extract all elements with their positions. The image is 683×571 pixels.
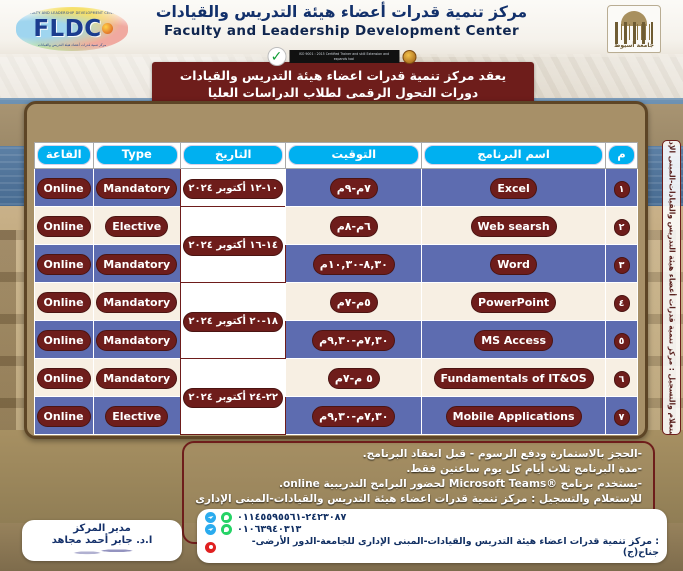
column-header-hall: القاعة (35, 143, 94, 169)
contact-phone-1: ٢٤٢٣٠٨٧-٠١١٤٥٥٩٥٥٦١ (237, 512, 346, 524)
fldc-logo-letters: FLDC (33, 16, 101, 42)
program-name: Excel (490, 178, 536, 199)
table-row: ٧Mobile Applications٧,٣٠م-٩,٣٠مElectiveO… (35, 397, 638, 435)
program-type-cell: Mandatory (93, 359, 180, 397)
program-type-cell: Elective (93, 397, 180, 435)
whatsapp-icon (221, 512, 232, 523)
director-signature-box: مدير المركز ا.د. جابر أحمد مجاهد (22, 520, 182, 561)
program-hall-cell: Online (35, 169, 94, 207)
table-header-row: م اسم البرنامج التوقيت التاريخ Type القا… (35, 143, 638, 169)
program-time-cell: ٥ م-٧م (286, 359, 422, 397)
telegram-icon-2 (205, 524, 216, 535)
column-header-date-label: التاريخ (183, 145, 284, 165)
certification-check-icon: ✓ (267, 47, 286, 66)
assiut-university-logo-icon: جامعة أسيوط (607, 5, 661, 53)
schedule-table: م اسم البرنامج التوقيت التاريخ Type القا… (34, 142, 638, 435)
fldc-logo-icon: FACULTY AND LEADERSHIP DEVELOPMENT CENTE… (16, 7, 128, 51)
director-role: مدير المركز (28, 523, 176, 534)
program-date: ١٠-١٢ أكتوبر ٢٠٢٤ (183, 179, 283, 199)
column-header-type-label: Type (96, 145, 178, 165)
program-hall: Online (37, 254, 91, 275)
program-hall-cell: Online (35, 359, 94, 397)
program-date: ٢٢-٢٤ أكتوبر ٢٠٢٤ (183, 388, 283, 408)
contact-phone-row-1: ٢٤٢٣٠٨٧-٠١١٤٥٥٩٥٥٦١ (205, 512, 659, 524)
program-type: Mandatory (96, 254, 177, 275)
program-type-cell: Mandatory (93, 321, 180, 359)
certification-badge-text: ISO 9001 : 2015 Certified Trainer and sk… (289, 50, 399, 63)
row-number-cell: ٣ (606, 245, 638, 283)
whatsapp-icon-2 (221, 524, 232, 535)
program-hall-cell: Online (35, 397, 94, 435)
column-header-program: اسم البرنامج (422, 143, 606, 169)
row-number: ٦ (614, 371, 630, 388)
fldc-logo-text: FLDC (33, 18, 110, 41)
row-number: ٢ (614, 219, 630, 236)
program-time: ٨,٣٠-١٠,٣٠م (313, 254, 395, 275)
program-name-cell: Fundamentals of IT&OS (422, 359, 606, 397)
program-name-cell: PowerPoint (422, 283, 606, 321)
fldc-logo-ring-bottom-text: مركز تنمية قدرات أعضاء هيئة التدريس والق… (16, 43, 128, 47)
program-type: Mandatory (96, 330, 177, 351)
program-hall: Online (37, 292, 91, 313)
program-type: Mandatory (96, 368, 177, 389)
column-header-time: التوقيت (286, 143, 422, 169)
note-line-2: -مدة البرنامج ثلاث أيام كل يوم ساعتين فق… (195, 462, 642, 477)
table-row: ١Excel٧م-٩م١٠-١٢ أكتوبر ٢٠٢٤MandatoryOnl… (35, 169, 638, 207)
side-info-strip: للإستعلام والتسجيل : مركز تنمية قدرات أع… (662, 140, 681, 435)
announcement-line-2: دورات التحول الرقمى لطلاب الدراسات العلي… (162, 85, 524, 102)
program-name-cell: MS Access (422, 321, 606, 359)
schedule-table-body: ١Excel٧م-٩م١٠-١٢ أكتوبر ٢٠٢٤MandatoryOnl… (35, 169, 638, 435)
program-type-cell: Mandatory (93, 169, 180, 207)
row-number: ٤ (614, 295, 630, 312)
program-name: PowerPoint (471, 292, 556, 313)
column-header-hall-label: القاعة (37, 145, 91, 165)
note-line-3: -يستخدم برنامج ®Microsoft Teams لحضور ال… (195, 477, 642, 492)
program-time-cell: ٧,٣٠م-٩,٣٠م (286, 321, 422, 359)
program-name: Word (490, 254, 537, 275)
column-header-type: Type (93, 143, 180, 169)
program-time: ٧,٣٠م-٩,٣٠م (312, 406, 395, 427)
row-number-cell: ٧ (606, 397, 638, 435)
university-pillars-shape (615, 22, 653, 44)
row-number-cell: ٥ (606, 321, 638, 359)
row-number-cell: ٤ (606, 283, 638, 321)
row-number-cell: ١ (606, 169, 638, 207)
program-type: Mandatory (96, 178, 177, 199)
column-header-time-label: التوقيت (288, 145, 419, 165)
schedule-panel: م اسم البرنامج التوقيت التاريخ Type القا… (24, 101, 648, 439)
program-hall: Online (37, 368, 91, 389)
program-name-cell: Mobile Applications (422, 397, 606, 435)
program-time: ٧م-٩م (330, 178, 378, 199)
program-type-cell: Mandatory (93, 283, 180, 321)
program-type-cell: Elective (93, 207, 180, 245)
program-time-cell: ٧م-٩م (286, 169, 422, 207)
program-hall-cell: Online (35, 207, 94, 245)
note-line-1: -الحجز بالاستمارة ودفع الرسوم - قبل انعق… (195, 447, 642, 462)
program-name: Web searsh (471, 216, 557, 237)
program-date-cell: ١٤-١٦ أكتوبر ٢٠٢٤ (180, 207, 286, 283)
program-hall-cell: Online (35, 321, 94, 359)
row-number: ٣ (614, 257, 630, 274)
table-row: ٤PowerPoint٥م-٧م١٨-٢٠ أكتوبر ٢٠٢٤Mandato… (35, 283, 638, 321)
column-header-program-label: اسم البرنامج (424, 145, 603, 165)
program-date: ١٤-١٦ أكتوبر ٢٠٢٤ (183, 236, 283, 256)
program-time: ٧,٣٠م-٩,٣٠م (312, 330, 395, 351)
program-type: Elective (105, 216, 168, 237)
program-name-cell: Excel (422, 169, 606, 207)
table-row: ٣Word٨,٣٠-١٠,٣٠مMandatoryOnline (35, 245, 638, 283)
column-header-num: م (606, 143, 638, 169)
program-name-cell: Web searsh (422, 207, 606, 245)
announcement-line-1: يعقد مركز تنمية قدرات اعضاء هيئة التدريس… (162, 68, 524, 85)
program-hall: Online (37, 330, 91, 351)
row-number: ٧ (614, 409, 630, 426)
row-number-cell: ٢ (606, 207, 638, 245)
program-hall: Online (37, 216, 91, 237)
contact-phone-row-2: ٠١٠٦٣٩٤٠٣١٣ (205, 524, 659, 536)
contact-box: ٢٤٢٣٠٨٧-٠١١٤٥٥٩٥٥٦١ ٠١٠٦٣٩٤٠٣١٣ : مركز ت… (197, 509, 667, 563)
fldc-logo-ring-top-text: FACULTY AND LEADERSHIP DEVELOPMENT CENTE… (16, 11, 128, 15)
program-name: MS Access (474, 330, 553, 351)
row-number: ٥ (614, 333, 630, 350)
contact-phone-2: ٠١٠٦٣٩٤٠٣١٣ (237, 524, 301, 536)
program-type-cell: Mandatory (93, 245, 180, 283)
program-hall-cell: Online (35, 245, 94, 283)
program-date-cell: ١٠-١٢ أكتوبر ٢٠٢٤ (180, 169, 286, 207)
telegram-icon (205, 512, 216, 523)
program-name: Mobile Applications (446, 406, 582, 427)
program-name: Fundamentals of IT&OS (434, 368, 594, 389)
program-time: ٥ م-٧م (328, 368, 380, 389)
program-time-cell: ٦م-٨م (286, 207, 422, 245)
program-hall-cell: Online (35, 283, 94, 321)
fldc-logo-dot-icon (102, 23, 113, 34)
program-time-cell: ٨,٣٠-١٠,٣٠م (286, 245, 422, 283)
program-time: ٦م-٨م (330, 216, 378, 237)
location-pin-icon (205, 542, 216, 553)
program-name-cell: Word (422, 245, 606, 283)
program-type: Mandatory (96, 292, 177, 313)
program-hall: Online (37, 178, 91, 199)
table-row: ٥MS Access٧,٣٠م-٩,٣٠مMandatoryOnline (35, 321, 638, 359)
row-number: ١ (614, 181, 630, 198)
side-info-strip-text: للإستعلام والتسجيل : مركز تنمية قدرات أع… (668, 140, 676, 435)
program-date-cell: ١٨-٢٠ أكتوبر ٢٠٢٤ (180, 283, 286, 359)
column-header-num-label: م (608, 145, 635, 165)
certification-badge: ISO 9001 : 2015 Certified Trainer and sk… (267, 47, 416, 66)
program-date-cell: ٢٢-٢٤ أكتوبر ٢٠٢٤ (180, 359, 286, 435)
row-number-cell: ٦ (606, 359, 638, 397)
university-logo-label: جامعة أسيوط (608, 42, 660, 49)
program-date: ١٨-٢٠ أكتوبر ٢٠٢٤ (183, 312, 283, 332)
program-time-cell: ٧,٣٠م-٩,٣٠م (286, 397, 422, 435)
column-header-date: التاريخ (180, 143, 286, 169)
contact-address-row: : مركز تنمية قدرات اعضاء هيئة التدريس وا… (205, 536, 659, 560)
certification-seal-icon (402, 50, 416, 64)
program-time: ٥م-٧م (330, 292, 378, 313)
table-row: ٢Web searsh٦م-٨م١٤-١٦ أكتوبر ٢٠٢٤Electiv… (35, 207, 638, 245)
program-type: Elective (105, 406, 168, 427)
contact-address: : مركز تنمية قدرات اعضاء هيئة التدريس وا… (221, 536, 659, 560)
program-time-cell: ٥م-٧م (286, 283, 422, 321)
table-row: ٦Fundamentals of IT&OS٥ م-٧م٢٢-٢٤ أكتوبر… (35, 359, 638, 397)
program-hall: Online (37, 406, 91, 427)
